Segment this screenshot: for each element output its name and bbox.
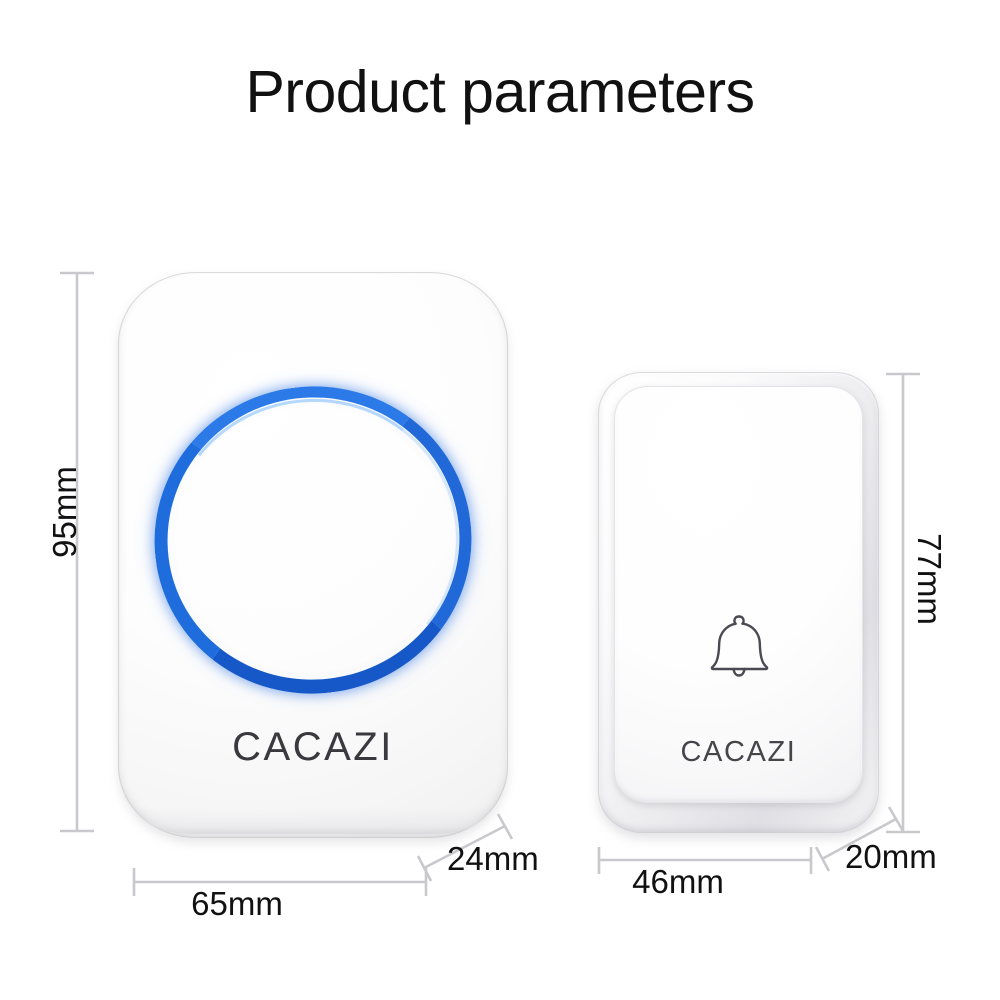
dimension-label-receiver-width: 65mm — [157, 885, 317, 923]
dim-tick-24mm-upper — [498, 814, 512, 839]
dim-tick-20mm-upper — [889, 807, 903, 831]
receiver-bottom-lip — [134, 808, 493, 834]
page-title: Product parameters — [0, 62, 1000, 124]
transmitter-brand-label: CACAZI — [598, 736, 879, 769]
receiver-device: CACAZI — [118, 272, 508, 838]
receiver-brand-label: CACAZI — [118, 725, 508, 770]
transmitter-device: CACAZI — [598, 372, 879, 833]
led-ring-icon — [157, 390, 469, 690]
dimension-label-receiver-height: 95mm — [46, 457, 84, 567]
dimension-label-transmitter-height: 77mm — [910, 524, 948, 634]
product-parameters-diagram: Product parameters CACAZI — [0, 0, 1000, 1000]
dimension-label-transmitter-width: 46mm — [598, 863, 758, 901]
bell-icon — [696, 607, 782, 693]
led-ring-highlight — [151, 382, 475, 697]
dimension-label-transmitter-depth: 20mm — [845, 838, 975, 876]
dim-tick-24mm-lower — [418, 856, 431, 881]
dimension-label-receiver-depth: 24mm — [447, 840, 577, 878]
dim-tick-20mm-lower — [816, 847, 829, 871]
